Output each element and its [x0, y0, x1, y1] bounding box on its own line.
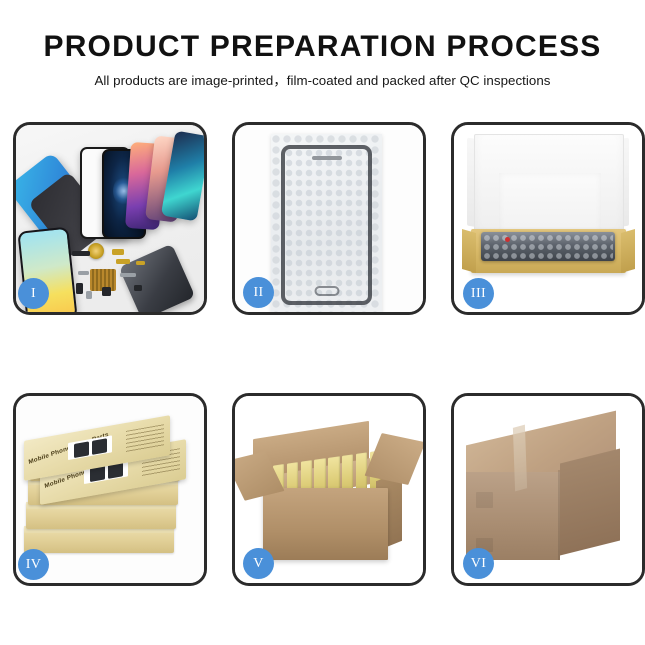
bubble-wrap-icon	[271, 134, 382, 312]
product-preparation-infographic: PRODUCT PREPARATION PROCESS All products…	[0, 0, 645, 645]
carton-corner-edge-icon	[558, 470, 560, 560]
sealed-carton-side-icon	[560, 449, 620, 556]
part-camera-icon	[134, 285, 142, 291]
step-panel-2: II	[232, 122, 426, 315]
step-badge-5: V	[243, 548, 274, 579]
part-connector-icon	[112, 249, 124, 255]
step-2-image: II	[235, 125, 423, 312]
part-flex-icon	[116, 259, 130, 264]
vibration-motor-icon	[88, 243, 104, 259]
steps-grid: I II	[0, 0, 645, 645]
step-badge-3: III	[463, 278, 494, 309]
step-panel-1: I	[13, 122, 207, 315]
carton-front-icon	[263, 488, 388, 560]
part-screw-icon	[86, 291, 92, 299]
box-window-phone-d	[92, 438, 107, 455]
wrapped-screen-icon	[281, 145, 372, 305]
carton-tab-upper-icon	[476, 492, 493, 508]
home-button-icon	[314, 286, 339, 296]
packed-screen-icon	[481, 232, 615, 261]
part-speaker-icon	[102, 287, 111, 296]
step-panel-5: V	[232, 393, 426, 586]
packing-tape-icon	[513, 425, 527, 492]
step-panel-6: VI	[451, 393, 645, 586]
label-dot-icon	[505, 237, 510, 242]
stack-box-bottom	[24, 526, 174, 553]
step-badge-4: IV	[18, 549, 49, 580]
step-4-image: Mobile Phone Spare Parts Mobile Phone Sp…	[16, 396, 204, 583]
step-panel-3: III	[451, 122, 645, 315]
step-badge-6: VI	[463, 548, 494, 579]
part-contact-icon	[136, 261, 145, 265]
step-3-image: III	[454, 125, 642, 312]
earpiece-icon	[312, 156, 342, 160]
part-bracket-icon	[78, 271, 89, 275]
step-5-image: V	[235, 396, 423, 583]
part-button-icon	[76, 283, 83, 294]
part-chip-icon	[72, 251, 90, 256]
box-window-top	[68, 435, 112, 460]
box-window-phone-c	[74, 441, 89, 458]
step-panel-4: Mobile Phone Spare Parts Mobile Phone Sp…	[13, 393, 207, 586]
foam-lid-icon	[474, 134, 624, 241]
step-6-image: VI	[454, 396, 642, 583]
step-badge-2: II	[243, 277, 274, 308]
step-badge-1: I	[18, 278, 49, 309]
box-spec-text-top	[126, 424, 164, 453]
stacked-boxes-icon: Mobile Phone Spare Parts Mobile Phone Sp…	[22, 406, 197, 581]
stack-box-4	[26, 502, 176, 529]
part-cable-icon	[120, 273, 136, 277]
step-1-image: I	[16, 125, 204, 312]
